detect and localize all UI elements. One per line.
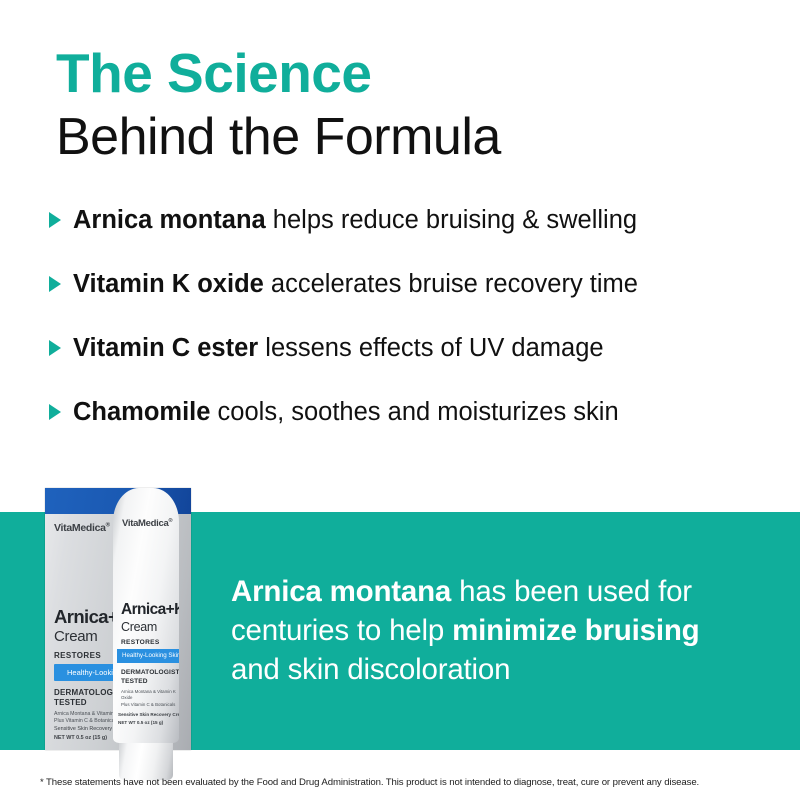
tube-product-name: Arnica+K — [121, 601, 179, 619]
marketing-infographic-page: The Science Behind the Formula Arnica mo… — [0, 0, 800, 800]
headline-accent-line: The Science — [56, 44, 756, 102]
benefits-list: Arnica montana helps reduce bruising & s… — [48, 205, 778, 461]
triangle-bullet-icon — [48, 211, 62, 229]
benefit-text: Vitamin K oxide accelerates bruise recov… — [73, 269, 638, 300]
tube-product-type: Cream — [121, 620, 157, 634]
tube-body: VitaMedica® Arnica+K Cream RESTORES Heal… — [113, 488, 179, 743]
product-tube: VitaMedica® Arnica+K Cream RESTORES Heal… — [113, 488, 179, 780]
tube-ingredients-line-1: Arnica Montana & Vitamin K Oxide — [121, 689, 177, 702]
carton-brand-logo: VitaMedica® — [54, 522, 110, 534]
benefit-rest: accelerates bruise recovery time — [264, 270, 638, 298]
tube-restores-label: RESTORES — [121, 639, 160, 646]
list-item: Arnica montana helps reduce bruising & s… — [48, 205, 778, 269]
benefit-lead: Chamomile — [73, 398, 210, 426]
tube-brand-text: VitaMedica — [122, 518, 168, 529]
benefit-rest: lessens effects of UV damage — [258, 334, 603, 362]
legal-disclaimer: * These statements have not been evaluat… — [40, 777, 770, 788]
tube-net-weight: NET WT 0.5 oz (15 g) — [118, 720, 163, 725]
list-item: Chamomile cools, soothes and moisturizes… — [48, 397, 778, 461]
benefit-rest: cools, soothes and moisturizes skin — [210, 398, 618, 426]
headline-main-line: Behind the Formula — [56, 108, 756, 166]
carton-registered-mark: ® — [106, 523, 110, 529]
benefit-lead: Vitamin K oxide — [73, 270, 264, 298]
teal-copy-text-3: and skin discoloration — [231, 653, 510, 686]
triangle-bullet-icon — [48, 403, 62, 421]
benefit-rest: helps reduce bruising & swelling — [266, 206, 637, 234]
list-item: Vitamin C ester lessens effects of UV da… — [48, 333, 778, 397]
benefit-text: Chamomile cools, soothes and moisturizes… — [73, 397, 619, 428]
carton-brand-text: VitaMedica — [54, 522, 106, 534]
teal-band-copy: Arnica montana has been used for centuri… — [231, 572, 736, 690]
list-item: Vitamin K oxide accelerates bruise recov… — [48, 269, 778, 333]
tube-brand-logo: VitaMedica® — [122, 518, 172, 529]
triangle-bullet-icon — [48, 275, 62, 293]
benefit-text: Arnica montana helps reduce bruising & s… — [73, 205, 637, 236]
product-photo: VitaMedica® Arnica+K Cream RESTORES Heal… — [40, 480, 220, 780]
tube-claim-badge: Healthy-Looking Skin — [117, 649, 179, 663]
tube-claim-badge-text: Healthy-Looking Skin — [122, 652, 179, 659]
teal-copy-bold-1: Arnica montana — [231, 575, 451, 608]
page-title: The Science Behind the Formula — [56, 44, 756, 167]
tube-ingredients: Arnica Montana & Vitamin K Oxide Plus Vi… — [121, 689, 177, 708]
carton-restores-label: RESTORES — [54, 651, 101, 660]
teal-copy-bold-2: minimize — [452, 614, 577, 647]
tube-descriptor: Sensitive Skin Recovery Cream — [118, 712, 179, 717]
tube-derm-line-1: DERMATOLOGIST — [121, 669, 179, 678]
benefit-text: Vitamin C ester lessens effects of UV da… — [73, 333, 604, 364]
tube-derm-claim: DERMATOLOGIST TESTED — [121, 669, 179, 686]
tube-registered-mark: ® — [168, 518, 172, 524]
teal-copy-bold-3: bruising — [585, 614, 700, 647]
tube-derm-line-2: TESTED — [121, 678, 179, 687]
carton-product-type: Cream — [54, 628, 98, 645]
benefit-lead: Arnica montana — [73, 206, 266, 234]
tube-ingredients-line-2: Plus Vitamin C & Botanicals — [121, 702, 177, 708]
triangle-bullet-icon — [48, 339, 62, 357]
benefit-lead: Vitamin C ester — [73, 334, 258, 362]
teal-copy-text-1: has been used — [451, 575, 650, 608]
